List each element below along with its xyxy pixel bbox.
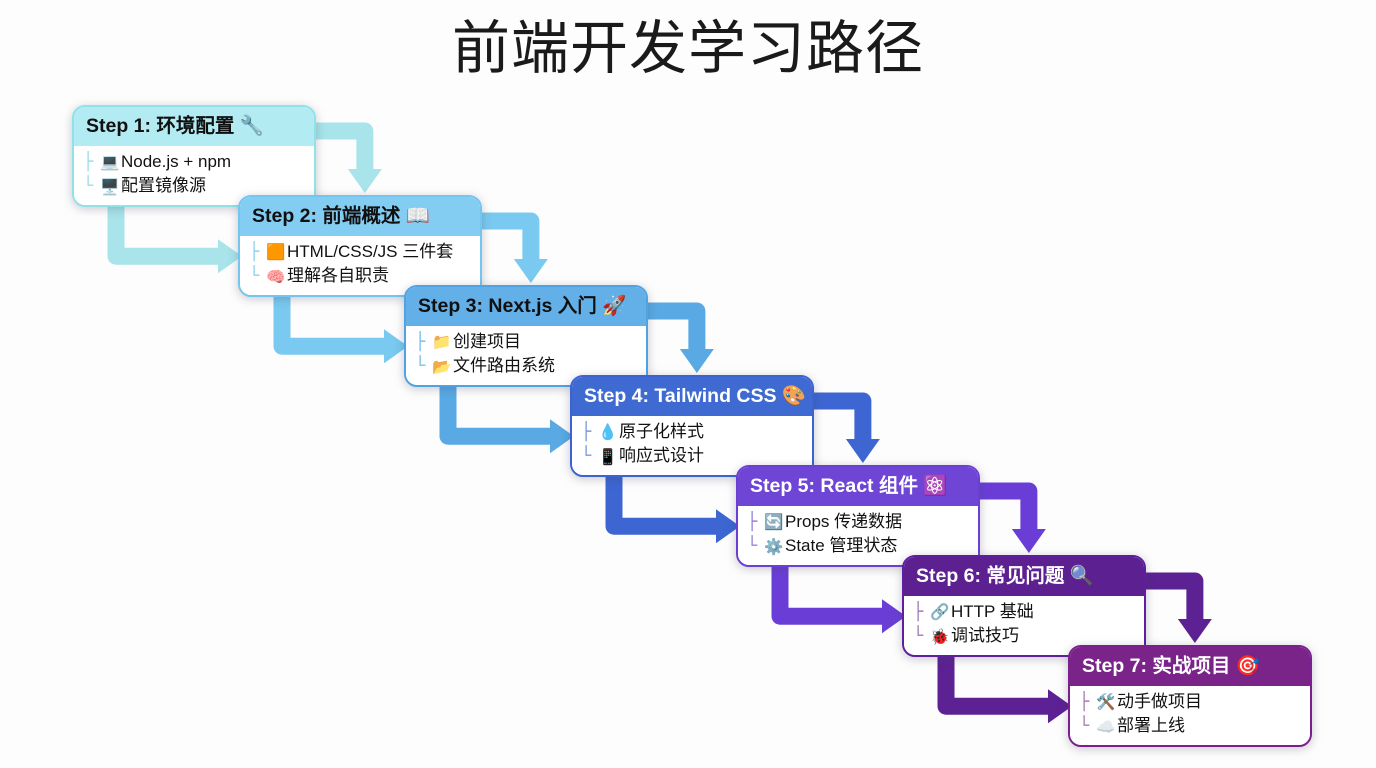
step-card-header: Step 1: 环境配置 🔧 bbox=[74, 107, 314, 146]
step-item-label: 部署上线 bbox=[1117, 714, 1185, 738]
step-item-label: 创建项目 bbox=[453, 330, 521, 354]
step-item-label: HTML/CSS/JS 三件套 bbox=[287, 240, 453, 264]
step-card-header: Step 2: 前端概述 📖 bbox=[240, 197, 480, 236]
tree-branch-icon: └ bbox=[1079, 714, 1095, 738]
tree-branch-icon: ├ bbox=[581, 420, 597, 444]
step-card-header: Step 6: 常见问题 🔍 bbox=[904, 557, 1144, 596]
step-card-body: ├🛠️动手做项目└☁️部署上线 bbox=[1070, 686, 1310, 744]
step-item: ├💧原子化样式 bbox=[581, 420, 805, 444]
tree-branch-icon: └ bbox=[249, 264, 265, 288]
tree-branch-icon: ├ bbox=[747, 510, 763, 534]
step-item: └☁️部署上线 bbox=[1079, 714, 1303, 738]
step-item-label: 动手做项目 bbox=[1117, 690, 1202, 714]
step-item-emoji-icon: 📂 bbox=[431, 356, 453, 378]
tree-branch-icon: ├ bbox=[83, 150, 99, 174]
card-inner: Step 3: Next.js 入门 🚀├📁创建项目└📂文件路由系统 bbox=[404, 285, 648, 387]
card-inner: Step 6: 常见问题 🔍├🔗HTTP 基础└🐞调试技巧 bbox=[902, 555, 1146, 657]
tree-branch-icon: └ bbox=[913, 624, 929, 648]
step-item: ├💻Node.js + npm bbox=[83, 150, 307, 174]
step-card-header: Step 4: Tailwind CSS 🎨 bbox=[572, 377, 812, 416]
arrow-right-down-6 bbox=[1138, 581, 1212, 643]
tree-branch-icon: └ bbox=[747, 534, 763, 558]
arrow-right-down-1 bbox=[308, 131, 382, 193]
tree-branch-icon: └ bbox=[581, 444, 597, 468]
step-item-label: 配置镜像源 bbox=[121, 174, 206, 198]
arrow-down-right-2 bbox=[282, 289, 408, 363]
step-card-7[interactable]: Step 7: 实战项目 🎯├🛠️动手做项目└☁️部署上线 bbox=[1068, 645, 1312, 747]
card-inner: Step 7: 实战项目 🎯├🛠️动手做项目└☁️部署上线 bbox=[1068, 645, 1312, 747]
tree-branch-icon: └ bbox=[415, 354, 431, 378]
step-item-label: Node.js + npm bbox=[121, 150, 231, 174]
step-item: ├🔗HTTP 基础 bbox=[913, 600, 1137, 624]
step-item-label: Props 传递数据 bbox=[785, 510, 902, 534]
step-card-header: Step 3: Next.js 入门 🚀 bbox=[406, 287, 646, 326]
step-item-emoji-icon: 💻 bbox=[99, 151, 121, 173]
card-inner: Step 2: 前端概述 📖├🟧HTML/CSS/JS 三件套└🧠理解各自职责 bbox=[238, 195, 482, 297]
tree-branch-icon: ├ bbox=[249, 240, 265, 264]
step-item-label: 原子化样式 bbox=[619, 420, 704, 444]
tree-branch-icon: └ bbox=[83, 174, 99, 198]
step-item-label: HTTP 基础 bbox=[951, 600, 1034, 624]
step-card-6[interactable]: Step 6: 常见问题 🔍├🔗HTTP 基础└🐞调试技巧 bbox=[902, 555, 1146, 657]
step-item-emoji-icon: 🖥️ bbox=[99, 176, 121, 198]
arrow-right-down-4 bbox=[806, 401, 880, 463]
step-item-emoji-icon: ⚙️ bbox=[763, 536, 785, 558]
step-item-emoji-icon: 🛠️ bbox=[1095, 691, 1117, 713]
step-item-label: 响应式设计 bbox=[619, 444, 704, 468]
diagram-canvas: 前端开发学习路径 Step 1: 环境配置 🔧├💻Node.js + npm└🖥… bbox=[0, 0, 1376, 768]
arrow-down-right-1 bbox=[116, 199, 242, 273]
tree-branch-icon: ├ bbox=[913, 600, 929, 624]
step-item: ├📁创建项目 bbox=[415, 330, 639, 354]
arrow-down-right-4 bbox=[614, 469, 740, 543]
step-item: ├🔄Props 传递数据 bbox=[747, 510, 971, 534]
step-item-label: 文件路由系统 bbox=[453, 354, 555, 378]
step-item-emoji-icon: 📱 bbox=[597, 446, 619, 468]
step-item-emoji-icon: 🧠 bbox=[265, 266, 287, 288]
step-item-label: 调试技巧 bbox=[951, 624, 1019, 648]
step-item-emoji-icon: ☁️ bbox=[1095, 716, 1117, 738]
step-item-label: 理解各自职责 bbox=[287, 264, 389, 288]
step-item-emoji-icon: 🐞 bbox=[929, 626, 951, 648]
step-item-emoji-icon: 💧 bbox=[597, 421, 619, 443]
step-item-emoji-icon: 🟧 bbox=[265, 241, 287, 263]
arrow-down-right-3 bbox=[448, 379, 574, 453]
arrow-down-right-6 bbox=[946, 649, 1072, 723]
step-card-1[interactable]: Step 1: 环境配置 🔧├💻Node.js + npm└🖥️配置镜像源 bbox=[72, 105, 316, 207]
step-card-4[interactable]: Step 4: Tailwind CSS 🎨├💧原子化样式└📱响应式设计 bbox=[570, 375, 814, 477]
step-item-emoji-icon: 🔗 bbox=[929, 601, 951, 623]
step-item-label: State 管理状态 bbox=[785, 534, 897, 558]
card-inner: Step 1: 环境配置 🔧├💻Node.js + npm└🖥️配置镜像源 bbox=[72, 105, 316, 207]
step-card-3[interactable]: Step 3: Next.js 入门 🚀├📁创建项目└📂文件路由系统 bbox=[404, 285, 648, 387]
tree-branch-icon: ├ bbox=[1079, 690, 1095, 714]
step-card-header: Step 7: 实战项目 🎯 bbox=[1070, 647, 1310, 686]
step-card-header: Step 5: React 组件 ⚛️ bbox=[738, 467, 978, 506]
step-item-emoji-icon: 📁 bbox=[431, 331, 453, 353]
card-inner: Step 4: Tailwind CSS 🎨├💧原子化样式└📱响应式设计 bbox=[570, 375, 814, 477]
step-card-5[interactable]: Step 5: React 组件 ⚛️├🔄Props 传递数据└⚙️State … bbox=[736, 465, 980, 567]
tree-branch-icon: ├ bbox=[415, 330, 431, 354]
page-title: 前端开发学习路径 bbox=[0, 16, 1376, 83]
step-item: ├🟧HTML/CSS/JS 三件套 bbox=[249, 240, 473, 264]
arrow-right-down-5 bbox=[972, 491, 1046, 553]
arrow-right-down-3 bbox=[640, 311, 714, 373]
arrow-right-down-2 bbox=[474, 221, 548, 283]
step-item-emoji-icon: 🔄 bbox=[763, 511, 785, 533]
card-inner: Step 5: React 组件 ⚛️├🔄Props 传递数据└⚙️State … bbox=[736, 465, 980, 567]
step-item: ├🛠️动手做项目 bbox=[1079, 690, 1303, 714]
arrow-down-right-5 bbox=[780, 559, 906, 633]
step-card-2[interactable]: Step 2: 前端概述 📖├🟧HTML/CSS/JS 三件套└🧠理解各自职责 bbox=[238, 195, 482, 297]
